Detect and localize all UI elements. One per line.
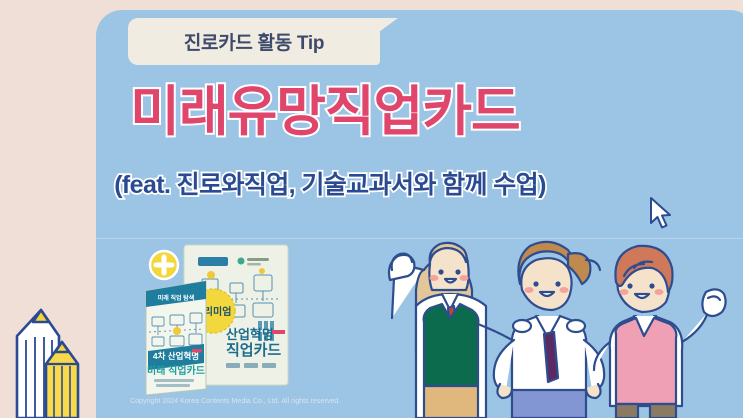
page-title-text: 미래유망직업카드 <box>130 82 519 142</box>
student-right <box>594 246 726 418</box>
page-title: 미래유망직업카드 <box>0 83 743 142</box>
student-center <box>494 242 604 418</box>
pencils-icon <box>0 290 100 418</box>
copyright-text: Copyright 2024 Korea Contents Media Co.,… <box>130 398 340 405</box>
svg-text:산업혁명: 산업혁명 <box>226 327 274 342</box>
slide-canvas: 진로카드 활동 Tip 미래유망직업카드 (feat. 진로와직업, 기술교과서… <box>0 0 743 418</box>
page-subtitle: (feat. 진로와직업, 기술교과서와 함께 수업) <box>0 165 743 201</box>
product-box-icon: 산업혁명 직업카드 프리미엄 미래 직업 탐색 <box>140 243 310 395</box>
plus-badge <box>150 251 178 279</box>
page-subtitle-text: (feat. 진로와직업, 기술교과서와 함께 수업) <box>114 171 546 199</box>
tip-banner-label: 진로카드 활동 Tip <box>128 18 380 65</box>
front-product-box: 미래 직업 탐색 4차 산업혁명 미래 직업카드 <box>146 281 206 395</box>
mouse-pointer-icon <box>648 196 674 230</box>
svg-text:미래 직업 탐색: 미래 직업 탐색 <box>158 294 194 302</box>
student-left <box>389 243 512 418</box>
three-students-icon <box>372 228 743 418</box>
svg-text:직업카드: 직업카드 <box>226 341 281 359</box>
svg-text:미래 직업카드: 미래 직업카드 <box>147 364 205 377</box>
